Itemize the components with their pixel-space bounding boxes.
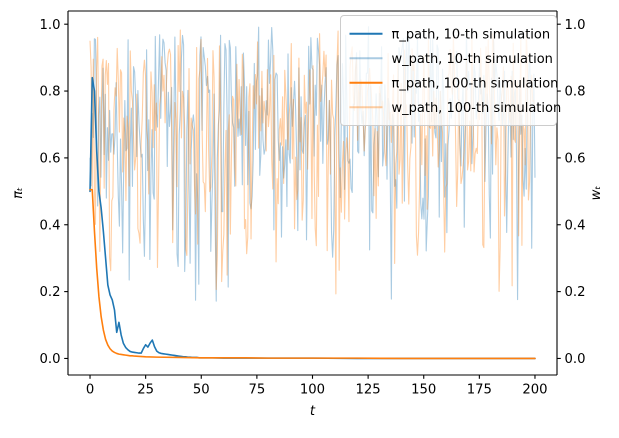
xtick-label: 25 xyxy=(137,383,154,398)
ytick-label-right: 0.2 xyxy=(565,285,586,300)
ytick-label-left: 0.6 xyxy=(40,152,61,167)
y-axis-title-right: wₜ xyxy=(589,186,604,201)
y-axis-title-left: πₜ xyxy=(11,187,26,199)
chart-plot: 02550751001251501752000.00.20.40.60.81.0… xyxy=(0,0,619,438)
xtick-label: 100 xyxy=(300,383,325,398)
ytick-label-left: 0.0 xyxy=(40,352,61,367)
legend-label: w_path, 100-th simulation xyxy=(392,101,562,116)
legend-label: π_path, 100-th simulation xyxy=(392,76,559,91)
xtick-label: 125 xyxy=(356,383,381,398)
ytick-label-left: 1.0 xyxy=(40,18,61,33)
legend-label: w_path, 10-th simulation xyxy=(392,52,553,67)
xtick-label: 150 xyxy=(411,383,436,398)
ytick-label-right: 0.0 xyxy=(565,352,586,367)
xtick-label: 75 xyxy=(248,383,265,398)
xtick-label: 175 xyxy=(467,383,492,398)
chart-legend: π_path, 10-th simulationw_path, 10-th si… xyxy=(341,16,562,126)
ytick-label-left: 0.2 xyxy=(40,285,61,300)
ytick-label-left: 0.4 xyxy=(40,218,61,233)
ytick-label-right: 0.4 xyxy=(565,218,586,233)
xtick-label: 0 xyxy=(86,383,94,398)
ytick-label-left: 0.8 xyxy=(40,85,61,100)
ytick-label-right: 0.6 xyxy=(565,152,586,167)
figure-canvas: 02550751001251501752000.00.20.40.60.81.0… xyxy=(0,0,619,438)
ytick-label-right: 1.0 xyxy=(565,18,586,33)
x-axis-title: t xyxy=(310,404,316,419)
xtick-label: 50 xyxy=(193,383,210,398)
xtick-label: 200 xyxy=(522,383,547,398)
legend-label: π_path, 10-th simulation xyxy=(392,27,551,42)
ytick-label-right: 0.8 xyxy=(565,85,586,100)
